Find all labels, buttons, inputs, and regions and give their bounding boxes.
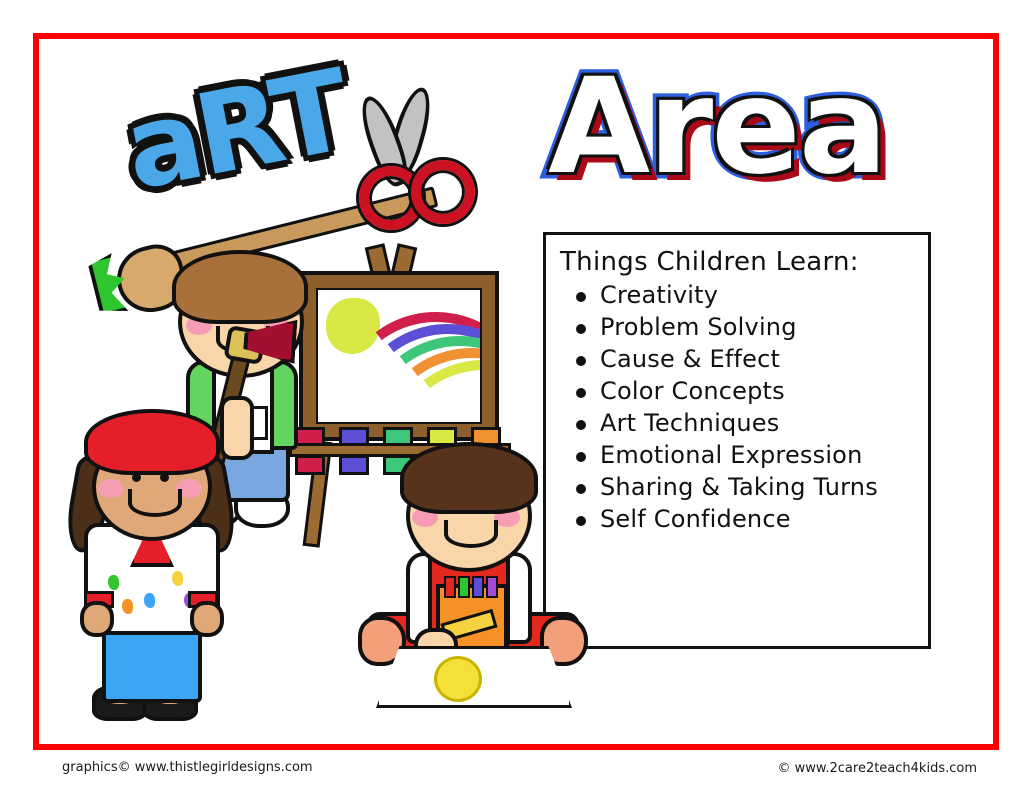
page-title: Area (548, 50, 886, 204)
list-item: Self Confidence (574, 507, 928, 531)
smile (128, 489, 182, 517)
cheek (98, 479, 124, 498)
poster-title: Area (548, 52, 948, 202)
hand (190, 601, 224, 637)
sun-drawing (434, 656, 482, 702)
list-item: Color Concepts (574, 379, 928, 403)
scissors-handle-right (411, 160, 475, 224)
list-item: Emotional Expression (574, 443, 928, 467)
learn-items-list: Creativity Problem Solving Cause & Effec… (546, 283, 928, 531)
paint-splatter (172, 571, 183, 586)
list-item: Sharing & Taking Turns (574, 475, 928, 499)
list-item: Art Techniques (574, 411, 928, 435)
art-wordart-text: aRT (115, 46, 357, 216)
list-item: Creativity (574, 283, 928, 307)
hand (80, 601, 114, 637)
pants (102, 623, 202, 703)
list-item: Cause & Effect (574, 347, 928, 371)
paint-splatter (122, 599, 133, 614)
list-item: Problem Solving (574, 315, 928, 339)
art-logo-group: aRT (95, 60, 495, 275)
smile (444, 520, 498, 548)
credit-left: graphics© www.thistlegirldesigns.com (62, 760, 313, 775)
crayon (472, 576, 484, 598)
hair (400, 442, 538, 514)
paint-splatter (108, 575, 119, 590)
kid-girl-illustration (62, 395, 252, 715)
paint-splatter (144, 593, 155, 608)
crayon (444, 576, 456, 598)
kid-sitter-illustration (358, 440, 583, 705)
crayon (486, 576, 498, 598)
scissors-icon (363, 82, 483, 212)
hair (172, 250, 308, 324)
red-beret (84, 409, 220, 475)
crayon (458, 576, 470, 598)
things-children-learn-box: Things Children Learn: Creativity Proble… (543, 232, 931, 649)
easel-canvas (316, 288, 482, 424)
credit-right: © www.2care2teach4kids.com (778, 761, 977, 776)
learn-box-heading: Things Children Learn: (560, 247, 928, 277)
art-area-poster: aRT Area Things Children Learn: Creativi… (0, 0, 1035, 800)
